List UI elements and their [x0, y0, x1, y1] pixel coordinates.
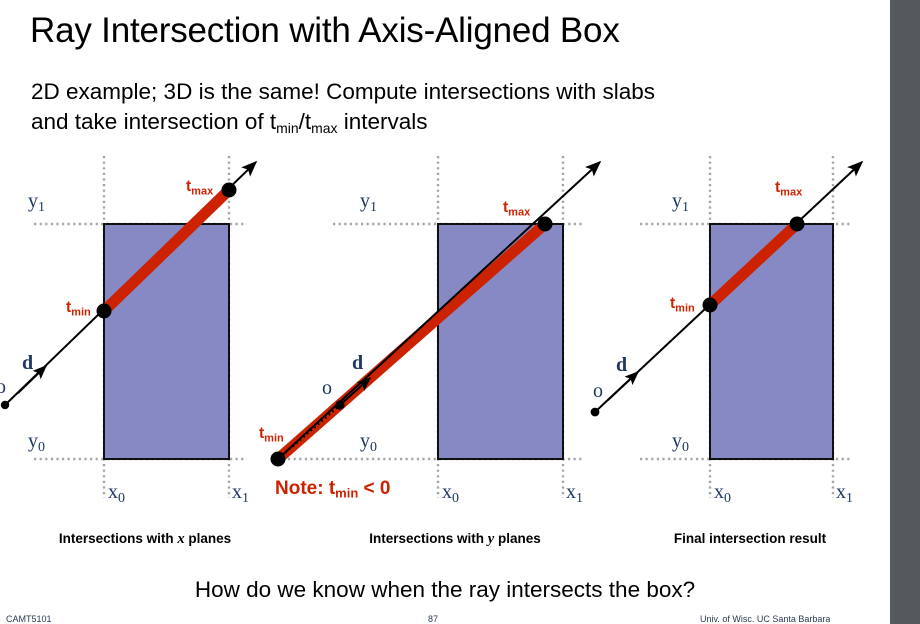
caption-panel-final-result: Final intersection result [610, 531, 890, 548]
caption-panel-x-planes: Intersections with x planes [0, 531, 290, 548]
y1-axis-label: y1 [672, 190, 689, 215]
right-sidebar-strip [890, 0, 920, 624]
tmax-subscript: max [780, 187, 803, 199]
x0-axis-label: x0 [108, 481, 125, 506]
ray-origin-label: o [593, 380, 603, 402]
caption-panel-y-planes: Intersections with y planes [310, 531, 600, 548]
subtitle-tmax-subscript: max [311, 120, 337, 136]
aabb-box [104, 224, 229, 459]
x1-axis-label: x1 [232, 481, 249, 506]
subtitle-line-2-mid: /t [299, 109, 312, 134]
ray-direction-label: d [616, 354, 627, 376]
ray-direction-arrow [608, 372, 638, 400]
footer-course-code: CAMT5101 [6, 614, 52, 624]
y0-axis-label: y0 [360, 430, 377, 455]
bottom-question: How do we know when the ray intersects t… [0, 576, 890, 604]
footer-page-number: 87 [428, 614, 438, 624]
ray-origin-point [591, 408, 600, 417]
y0-axis-label: y0 [672, 430, 689, 455]
caption-1-pre: Intersections with [59, 531, 178, 546]
subtitle-line-2-pre: and take intersection of t [31, 109, 276, 134]
tmin-label: tmin [66, 299, 91, 319]
tmax-point [538, 217, 553, 232]
tmax-subscript: max [191, 186, 214, 198]
caption-1-var: x [177, 531, 184, 547]
ray-direction-arrow [340, 378, 370, 405]
tmin-subscript: min [675, 303, 695, 315]
x0-axis-label: x0 [442, 481, 459, 506]
tmin-point [271, 452, 286, 467]
tmax-label: tmax [186, 178, 214, 198]
panel-final-result: tmax tmin y1 y0 x0 x1 o d [591, 156, 862, 506]
ray-origin-label: o [0, 376, 6, 398]
subtitle-line-1: 2D example; 3D is the same! Compute inte… [31, 77, 861, 107]
x1-axis-label: x1 [836, 481, 853, 506]
aabb-box [710, 224, 833, 459]
slide-canvas: Ray Intersection with Axis-Aligned Box 2… [0, 0, 920, 624]
ray-origin-label: o [322, 377, 332, 399]
caption-1-post: planes [185, 531, 232, 546]
tmin-point [97, 304, 112, 319]
subtitle-tmin-subscript: min [276, 120, 298, 136]
caption-2-pre: Intersections with [369, 531, 488, 546]
caption-3-pre: Final intersection result [674, 531, 826, 546]
ray-direction-label: d [352, 352, 363, 374]
x1-axis-label: x1 [566, 481, 583, 506]
panel-x-planes: tmax tmin y1 y0 x0 x1 o d [0, 156, 256, 506]
note-subscript: min [335, 486, 358, 501]
subtitle-line-2-post: intervals [337, 109, 427, 134]
tmax-label: tmax [775, 179, 803, 199]
ray-origin-point [335, 400, 344, 409]
tmax-subscript: max [508, 207, 531, 219]
footer-attribution: Univ. of Wisc. UC Santa Barbara [700, 614, 830, 624]
ray-direction-label: d [22, 352, 33, 374]
x0-axis-label: x0 [714, 481, 731, 506]
slide-subtitle: 2D example; 3D is the same! Compute inte… [31, 77, 861, 143]
ray-box-intersection-figure: tmax tmin y1 y0 x0 x1 o d [0, 150, 890, 550]
caption-2-post: planes [494, 531, 541, 546]
y1-axis-label: y1 [28, 190, 45, 215]
tmin-subscript: min [264, 433, 284, 445]
tmax-point [790, 217, 805, 232]
ray-origin-point [1, 401, 9, 409]
tmax-label: tmax [503, 199, 531, 219]
y1-axis-label: y1 [360, 190, 377, 215]
tmin-label: tmin [670, 295, 695, 315]
tmin-subscript: min [71, 307, 91, 319]
tmax-point [222, 183, 237, 198]
tmin-label: tmin [259, 425, 284, 445]
page-title: Ray Intersection with Axis-Aligned Box [30, 8, 870, 54]
y0-axis-label: y0 [28, 430, 45, 455]
subtitle-line-2: and take intersection of tmin/tmax inter… [31, 107, 861, 143]
panel-y-planes: tmax tmin y1 y0 x0 x1 o d [259, 156, 600, 506]
tmin-point [703, 298, 718, 313]
note-tmin-negative: Note: tmin < 0 [275, 478, 391, 501]
